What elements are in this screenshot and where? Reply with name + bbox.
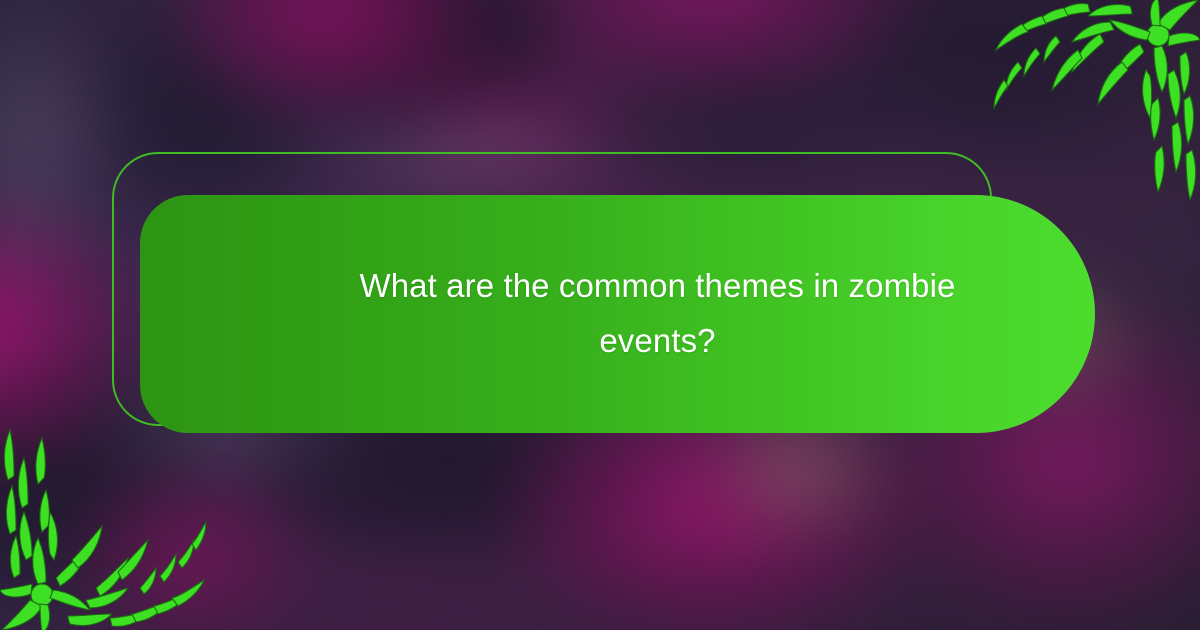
poster-canvas: What are the common themes in zombie eve…: [0, 0, 1200, 630]
question-card: What are the common themes in zombie eve…: [140, 195, 1095, 433]
page-title: What are the common themes in zombie eve…: [308, 259, 1008, 369]
